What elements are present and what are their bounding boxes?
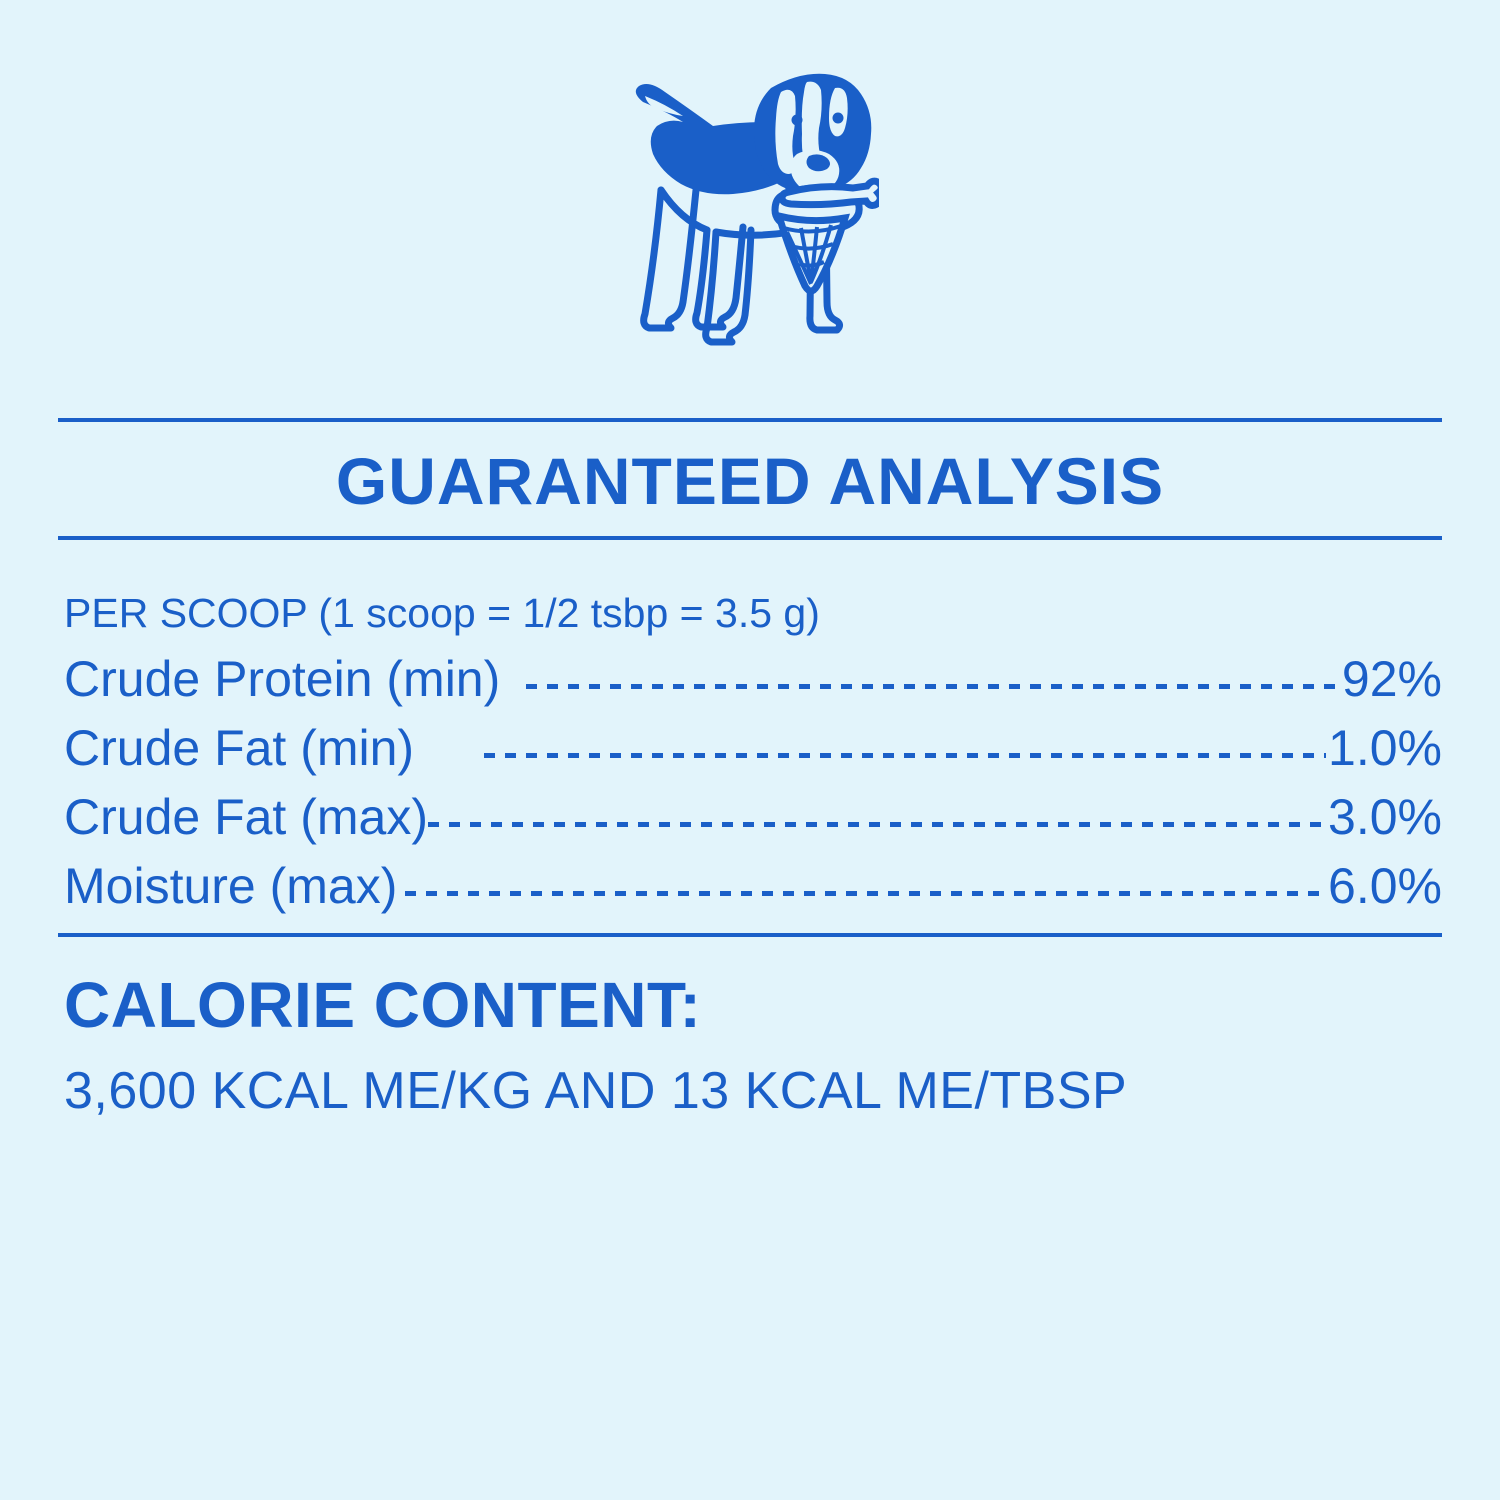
title-block: GUARANTEED ANALYSIS [58, 422, 1442, 536]
serving-note: PER SCOOP (1 scoop = 1/2 tsbp = 3.5 g) [58, 540, 1442, 645]
leader-dots [484, 715, 1326, 765]
dog-eye-right [833, 113, 844, 124]
analysis-row: Crude Protein (min) 92% [64, 645, 1442, 714]
calorie-content-block: CALORIE CONTENT: 3,600 KCAL ME/KG AND 13… [58, 937, 1442, 1123]
dog-bandana [779, 216, 845, 291]
guaranteed-analysis-label: GUARANTEED ANALYSIS PER SCOOP (1 scoop =… [0, 0, 1500, 1500]
leader-dots [526, 646, 1340, 696]
page-title: GUARANTEED ANALYSIS [58, 448, 1442, 514]
nutrient-value: 1.0% [1328, 714, 1442, 783]
nutrient-label: Crude Protein (min) [64, 645, 500, 714]
calorie-content-heading: CALORIE CONTENT: [64, 971, 1442, 1040]
dog-logo-icon [621, 70, 879, 348]
nutrient-value: 3.0% [1328, 783, 1442, 852]
calorie-content-value: 3,600 KCAL ME/KG AND 13 KCAL ME/TBSP [64, 1040, 1442, 1122]
analysis-row: Crude Fat (max) 3.0% [64, 783, 1442, 852]
dog-eye-left [792, 115, 803, 126]
nutrient-label: Crude Fat (min) [64, 714, 414, 783]
nutrient-label: Crude Fat (max) [64, 783, 428, 852]
analysis-row: Crude Fat (min) 1.0% [64, 714, 1442, 783]
analysis-rows: Crude Protein (min) 92% Crude Fat (min) … [58, 645, 1442, 933]
nutrient-label: Moisture (max) [64, 852, 397, 921]
analysis-row: Moisture (max) 6.0% [64, 852, 1442, 921]
logo-area [58, 0, 1442, 418]
leader-dots [428, 784, 1326, 834]
nutrient-value: 6.0% [1328, 852, 1442, 921]
nutrient-value: 92% [1342, 645, 1442, 714]
leader-dots [405, 853, 1326, 903]
